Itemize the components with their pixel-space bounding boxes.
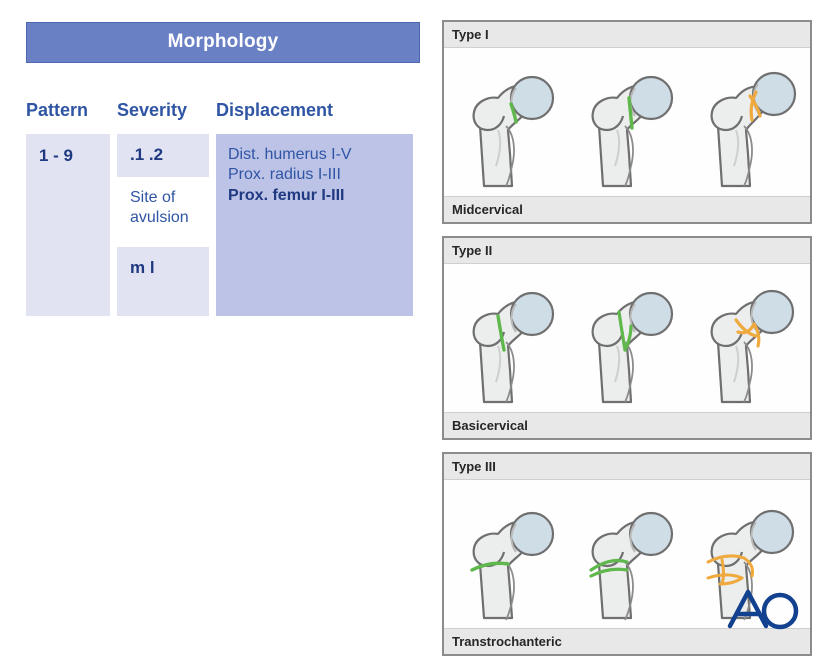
femur-illustration-2b [573, 270, 681, 410]
panel-footer-type-2: Basicervical [444, 412, 810, 438]
column-header-pattern: Pattern [26, 100, 110, 134]
cell-displacement-value: Dist. humerus I-V Prox. radius I-III Pro… [216, 134, 413, 316]
type-panel-1: Type I [442, 20, 812, 224]
ao-logo-icon [726, 584, 804, 630]
panel-footer-type-3: Transtrochanteric [444, 628, 810, 654]
cell-pattern-value: 1 - 9 [26, 134, 110, 316]
type-panel-2: Type II [442, 236, 812, 440]
severity-spacer [117, 238, 209, 247]
femur-illustration-2a [454, 270, 562, 410]
panel-header-type-1: Type I [444, 22, 810, 48]
femur-illustration-1c [692, 54, 800, 194]
displacement-line-femur: Prox. femur I-III [228, 186, 413, 206]
column-pattern: Pattern 1 - 9 [26, 100, 110, 316]
column-severity: Severity .1 .2 Site of avulsion m l [117, 100, 209, 316]
cell-severity-site: Site of avulsion [117, 177, 209, 238]
panel-header-type-2: Type II [444, 238, 810, 264]
column-header-severity: Severity [117, 100, 209, 134]
femur-illustration-3a [454, 486, 562, 626]
morphology-title-bar: Morphology [26, 22, 420, 63]
type-panel-3: Type III [442, 452, 812, 656]
column-header-displacement: Displacement [216, 100, 413, 134]
femur-illustration-1a [454, 54, 562, 194]
severity-site-line-2: avulsion [130, 209, 189, 226]
morphology-columns: Pattern 1 - 9 Severity .1 .2 Site of avu… [26, 100, 420, 316]
panel-body-type-2 [444, 264, 810, 412]
panel-footer-type-1: Midcervical [444, 196, 810, 222]
femur-illustration-2c [692, 270, 800, 410]
cell-severity-sites: m l [117, 247, 209, 290]
type-panels-group: Type I [442, 20, 812, 668]
displacement-line-radius: Prox. radius I-III [228, 165, 413, 185]
severity-tail-fill [117, 290, 209, 316]
panel-body-type-3 [444, 480, 810, 628]
severity-site-line-1: Site of [130, 189, 175, 206]
femur-illustration-3b [573, 486, 681, 626]
column-displacement: Displacement Dist. humerus I-V Prox. rad… [216, 100, 413, 316]
femur-illustration-1b [573, 54, 681, 194]
morphology-table: Morphology Pattern 1 - 9 Severity .1 .2 … [26, 22, 420, 316]
panel-header-type-3: Type III [444, 454, 810, 480]
displacement-line-humerus: Dist. humerus I-V [228, 145, 413, 165]
cell-severity-grades: .1 .2 [117, 134, 209, 177]
panel-body-type-1 [444, 48, 810, 196]
